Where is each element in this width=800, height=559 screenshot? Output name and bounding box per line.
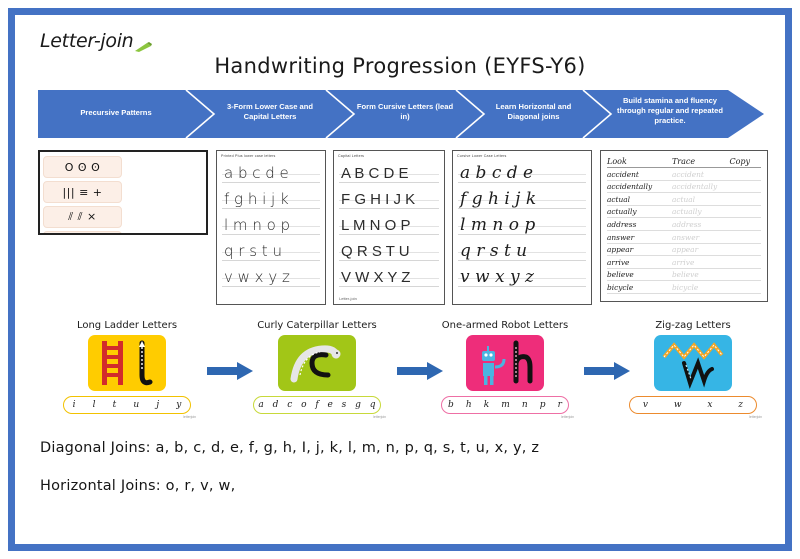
family-letter: p <box>540 400 546 410</box>
alphabet-row: q r s t u <box>222 239 320 264</box>
family-letter-strip: i l t u j y <box>63 396 191 414</box>
ltc-row: bicyclebicycle <box>601 281 767 294</box>
ltc-look-word: believe <box>607 270 672 281</box>
family-letter: a <box>258 400 263 410</box>
ltc-look-word: appear <box>607 245 672 256</box>
family-watermark: letterjoin <box>52 415 202 419</box>
alphabet-row: V W X Y Z <box>339 265 439 290</box>
ltc-trace-word: accident <box>672 170 730 181</box>
alphabet-row-text: a b c d e <box>460 165 533 182</box>
family-title: One-armed Robot Letters <box>430 320 580 331</box>
family-watermark: letterjoin <box>242 415 392 419</box>
ltc-look-word: actual <box>607 195 672 206</box>
poster-page: Letter-join Handwriting Progression (EYF… <box>0 0 800 559</box>
ltc-row: believebelieve <box>601 269 767 282</box>
family-letter: o <box>301 400 306 410</box>
pattern-cell: ∿∿∿∿ <box>43 231 122 235</box>
letter-families-row: Long Ladder Letters i l t u <box>32 320 772 430</box>
worksheet-caption: Capital Letters <box>338 154 444 158</box>
horizontal-joins-line: Horizontal Joins: o, r, v, w, <box>40 478 760 494</box>
family-one-armed-robot[interactable]: One-armed Robot Letters b h <box>430 320 580 419</box>
family-title: Curly Caterpillar Letters <box>242 320 392 331</box>
family-letter: h <box>466 400 472 410</box>
family-zig-zag[interactable]: Zig-zag Letters v w x z letterjoin <box>618 320 768 419</box>
alphabet-row: v w x y z <box>222 265 320 290</box>
alphabet-row-text: Q R S T U <box>341 244 410 259</box>
alphabet-row-text: V W X Y Z <box>341 270 410 285</box>
alphabet-row-text: f g h i j k <box>460 191 536 208</box>
ltc-trace-word: actually <box>672 207 730 218</box>
ltc-trace-word: address <box>672 220 730 231</box>
family-letter-strip: v w x z <box>629 396 757 414</box>
page-title: Handwriting Progression (EYFS-Y6) <box>22 54 778 78</box>
alphabet-row-text: a b c d e <box>224 166 289 181</box>
ltc-look-word: arrive <box>607 258 672 269</box>
family-watermark: letterjoin <box>618 415 768 419</box>
capitals-rows: A B C D E F G H I J K L M N O P Q R S T … <box>334 159 444 290</box>
brand-logo[interactable]: Letter-join <box>40 30 153 52</box>
ltc-row: accidentallyaccidentally <box>601 181 767 194</box>
family-letter: j <box>156 400 159 410</box>
ltc-row: appearappear <box>601 244 767 257</box>
family-letter: r <box>558 400 562 410</box>
ltc-copy-blank[interactable] <box>729 270 761 281</box>
ltc-look-word: address <box>607 220 672 231</box>
worksheet-printed-lowercase[interactable]: Printed Plus lower case letters a b c d … <box>216 150 326 305</box>
ltc-copy-blank[interactable] <box>729 195 761 206</box>
ltc-copy-blank[interactable] <box>729 233 761 244</box>
worksheet-footer: Letter-join <box>339 296 357 301</box>
family-letter: l <box>93 400 96 410</box>
family-curly-caterpillar[interactable]: Curly Caterpillar Letters a d c o f e s … <box>242 320 392 419</box>
ltc-row: actualactual <box>601 193 767 206</box>
family-letter: v <box>643 400 648 410</box>
ltc-trace-word: bicycle <box>672 283 730 294</box>
family-letter: w <box>674 400 682 410</box>
ladder-icon <box>88 335 166 391</box>
family-letter: x <box>707 400 712 410</box>
family-long-ladder[interactable]: Long Ladder Letters i l t u <box>52 320 202 419</box>
family-letter: u <box>133 400 139 410</box>
alphabet-row: Q R S T U <box>339 239 439 264</box>
family-letter: e <box>328 400 333 410</box>
logo-text: Letter-join <box>40 30 133 52</box>
ltc-header-row: Look Trace Copy <box>601 151 767 168</box>
ltc-trace-word: arrive <box>672 258 730 269</box>
alphabet-row-text: A B C D E <box>341 166 409 181</box>
alphabet-row-text: q r s t u <box>460 243 527 260</box>
pattern-grid: O ʘ ʘ ||| ≡ + ⫽ ⫽ × ∿∿∿∿ ∧∧∧⊓⊓ ℓℓℓ σσσ ℣… <box>40 152 206 235</box>
worksheet-row: O ʘ ʘ ||| ≡ + ⫽ ⫽ × ∿∿∿∿ ∧∧∧⊓⊓ ℓℓℓ σσσ ℣… <box>38 150 768 310</box>
alphabet-row-text: L M N O P <box>341 218 410 233</box>
family-watermark: letterjoin <box>430 415 580 419</box>
ltc-row: actuallyactually <box>601 206 767 219</box>
family-letter: b <box>448 400 454 410</box>
worksheet-capital-letters[interactable]: Capital Letters A B C D E F G H I J K L … <box>333 150 445 305</box>
ltc-look-word: actually <box>607 207 672 218</box>
alphabet-row-text: F G H I J K <box>341 192 415 207</box>
family-letter: s <box>342 400 347 410</box>
ltc-row: accidentaccident <box>601 168 767 181</box>
pattern-cell: ||| ≡ + <box>43 181 122 203</box>
worksheet-caption: Printed Plus lower case letters <box>221 154 325 158</box>
worksheet-precursive-patterns[interactable]: O ʘ ʘ ||| ≡ + ⫽ ⫽ × ∿∿∿∿ ∧∧∧⊓⊓ ℓℓℓ σσσ ℣… <box>38 150 208 235</box>
ltc-header-trace: Trace <box>672 157 730 168</box>
poster-content: Letter-join Handwriting Progression (EYF… <box>22 22 778 537</box>
zigzag-icon <box>654 335 732 391</box>
alphabet-row: f g h i j k <box>458 187 586 212</box>
family-letter: z <box>738 400 743 410</box>
diagonal-joins-line: Diagonal Joins: a, b, c, d, e, f, g, h, … <box>40 440 760 456</box>
alphabet-row-text: f g h i j k <box>224 192 289 207</box>
alphabet-row: l m n o p <box>458 213 586 238</box>
ltc-copy-blank[interactable] <box>729 220 761 231</box>
family-letter: y <box>176 400 181 410</box>
progression-banner: Precursive Patterns 3-Form Lower Case an… <box>38 90 764 138</box>
alphabet-row: a b c d e <box>458 161 586 186</box>
ltc-copy-blank[interactable] <box>729 170 761 181</box>
ltc-trace-word: answer <box>672 233 730 244</box>
ltc-trace-word: actual <box>672 195 730 206</box>
ltc-look-word: bicycle <box>607 283 672 294</box>
alphabet-row-text: l m n o p <box>460 217 535 234</box>
ltc-look-word: answer <box>607 233 672 244</box>
joins-section: Diagonal Joins: a, b, c, d, e, f, g, h, … <box>40 440 760 516</box>
family-letter: i <box>73 400 76 410</box>
family-letter-strip: a d c o f e s g q <box>253 396 381 414</box>
family-letter: g <box>355 400 361 410</box>
alphabet-row-text: v w x y z <box>224 270 290 285</box>
ltc-copy-blank[interactable] <box>729 258 761 269</box>
pattern-cell: ⫽ ⫽ × <box>43 206 122 228</box>
ltc-look-word: accident <box>607 170 672 181</box>
ltc-header-look: Look <box>607 157 672 168</box>
alphabet-row: a b c d e <box>222 161 320 186</box>
ltc-row: addressaddress <box>601 218 767 231</box>
ltc-body: accidentaccident accidentallyaccidentall… <box>601 168 767 294</box>
alphabet-row: q r s t u <box>458 239 586 264</box>
family-letter: k <box>484 400 489 410</box>
alphabet-row: A B C D E <box>339 161 439 186</box>
family-title: Zig-zag Letters <box>618 320 768 331</box>
worksheet-look-trace-copy[interactable]: Look Trace Copy accidentaccident acciden… <box>600 150 768 302</box>
alphabet-row: L M N O P <box>339 213 439 238</box>
ltc-copy-blank[interactable] <box>729 207 761 218</box>
ltc-trace-word: believe <box>672 270 730 281</box>
alphabet-row-text: l m n o p <box>224 218 290 233</box>
family-letter: n <box>522 400 528 410</box>
lowercase-rows: a b c d e f g h i j k l m n o p q r s t … <box>217 159 325 290</box>
ltc-copy-blank[interactable] <box>729 182 761 193</box>
ltc-trace-word: appear <box>672 245 730 256</box>
worksheet-caption: Cursive Lower Case Letters <box>457 154 591 158</box>
ltc-header-copy: Copy <box>729 157 761 168</box>
family-letter: f <box>315 400 318 410</box>
family-letter: m <box>501 400 510 410</box>
alphabet-row: v w x y z <box>458 265 586 290</box>
family-title: Long Ladder Letters <box>52 320 202 331</box>
family-letter: c <box>287 400 292 410</box>
alphabet-row-text: v w x y z <box>460 269 534 286</box>
ltc-copy-blank[interactable] <box>729 245 761 256</box>
family-letter: q <box>370 400 376 410</box>
worksheet-cursive-lowercase[interactable]: Cursive Lower Case Letters a b c d e f g… <box>452 150 592 305</box>
family-letter: d <box>273 400 279 410</box>
ltc-trace-word: accidentally <box>672 182 730 193</box>
caterpillar-icon <box>278 335 356 391</box>
cursive-rows: a b c d e f g h i j k l m n o p q r s t … <box>453 159 591 290</box>
family-letter: t <box>113 400 117 410</box>
ltc-look-word: accidentally <box>607 182 672 193</box>
alphabet-row-text: q r s t u <box>224 244 282 259</box>
pattern-cell: O ʘ ʘ <box>43 156 122 178</box>
alphabet-row: l m n o p <box>222 213 320 238</box>
alphabet-row: F G H I J K <box>339 187 439 212</box>
alphabet-row: f g h i j k <box>222 187 320 212</box>
ltc-row: answeranswer <box>601 231 767 244</box>
pen-nib-icon <box>135 39 153 49</box>
family-letter-strip: b h k m n p r <box>441 396 569 414</box>
ltc-row: arrivearrive <box>601 256 767 269</box>
ltc-copy-blank[interactable] <box>729 283 761 294</box>
robot-icon <box>466 335 544 391</box>
